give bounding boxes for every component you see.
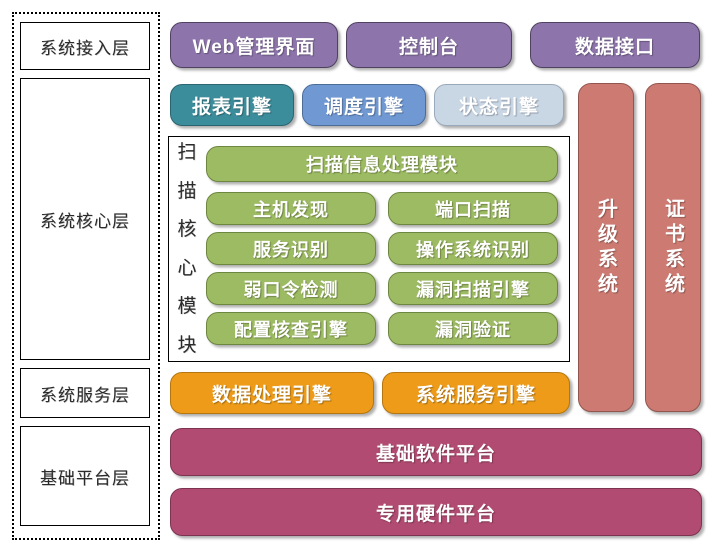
engine-item-status-label: 状态引擎: [459, 92, 539, 119]
side-system-certificate-label: 证书系统: [659, 198, 688, 298]
layer-label-platform: 基础平台层: [40, 464, 130, 489]
layer-label-service: 系统服务层: [40, 381, 130, 406]
core-vchar-3: 核: [177, 220, 196, 239]
engine-item-scheduler-label: 调度引擎: [324, 92, 404, 119]
core-vchar-5: 模: [177, 297, 196, 316]
access-item-web-ui-label: Web管理界面: [193, 32, 316, 59]
core-vchar-4: 心: [177, 259, 196, 278]
layer-box-service: 系统服务层: [20, 368, 150, 418]
core-module-service-identification[interactable]: 服务识别: [206, 232, 376, 265]
core-module-os-identification-label: 操作系统识别: [416, 236, 530, 262]
core-module-host-discovery-label: 主机发现: [253, 196, 329, 222]
service-item-system-service-engine[interactable]: 系统服务引擎: [382, 372, 570, 414]
core-module-host-discovery[interactable]: 主机发现: [206, 192, 376, 225]
service-item-system-service-engine-label: 系统服务引擎: [416, 380, 536, 407]
core-vchar-1: 扫: [177, 143, 196, 162]
platform-item-dedicated-hardware-label: 专用硬件平台: [376, 499, 496, 526]
core-module-scan-info-processing-label: 扫描信息处理模块: [306, 151, 458, 177]
access-item-data-interface-label: 数据接口: [575, 32, 655, 59]
side-system-upgrade-label: 升级系统: [592, 198, 621, 298]
platform-item-base-software-label: 基础软件平台: [376, 439, 496, 466]
engine-item-scheduler[interactable]: 调度引擎: [302, 84, 426, 126]
core-module-service-identification-label: 服务识别: [253, 236, 329, 262]
platform-item-dedicated-hardware[interactable]: 专用硬件平台: [170, 488, 702, 536]
core-module-vulnerability-scan-engine-label: 漏洞扫描引擎: [416, 276, 530, 302]
core-module-os-identification[interactable]: 操作系统识别: [388, 232, 558, 265]
platform-item-base-software[interactable]: 基础软件平台: [170, 428, 702, 476]
layer-label-access: 系统接入层: [40, 34, 130, 59]
core-module-vulnerability-verification-label: 漏洞验证: [435, 316, 511, 342]
core-vchar-6: 块: [177, 336, 196, 355]
core-module-vulnerability-scan-engine[interactable]: 漏洞扫描引擎: [388, 272, 558, 305]
layer-label-core: 系统核心层: [40, 207, 130, 232]
layer-box-platform: 基础平台层: [20, 426, 150, 526]
scan-core-module-vertical-label: 扫 描 核 心 模 块: [174, 143, 200, 355]
core-module-config-audit-engine[interactable]: 配置核查引擎: [206, 312, 376, 345]
service-item-data-processing-engine-label: 数据处理引擎: [212, 380, 332, 407]
side-system-upgrade[interactable]: 升级系统: [578, 83, 634, 412]
core-module-vulnerability-verification[interactable]: 漏洞验证: [388, 312, 558, 345]
core-vchar-2: 描: [177, 182, 196, 201]
core-module-weak-password-detection[interactable]: 弱口令检测: [206, 272, 376, 305]
core-module-port-scan-label: 端口扫描: [435, 196, 511, 222]
access-item-data-interface[interactable]: 数据接口: [530, 22, 700, 68]
access-item-console-label: 控制台: [399, 32, 459, 59]
access-item-web-ui[interactable]: Web管理界面: [170, 22, 338, 68]
layer-box-core: 系统核心层: [20, 78, 150, 360]
engine-item-report[interactable]: 报表引擎: [170, 84, 294, 126]
engine-item-report-label: 报表引擎: [192, 92, 272, 119]
engine-item-status[interactable]: 状态引擎: [434, 84, 564, 126]
architecture-diagram: 系统接入层 系统核心层 系统服务层 基础平台层 Web管理界面 控制台 数据接口…: [0, 0, 720, 550]
core-module-weak-password-detection-label: 弱口令检测: [244, 276, 339, 302]
layer-box-access: 系统接入层: [20, 22, 150, 70]
core-module-config-audit-engine-label: 配置核查引擎: [234, 316, 348, 342]
core-module-scan-info-processing[interactable]: 扫描信息处理模块: [206, 146, 558, 182]
side-system-certificate[interactable]: 证书系统: [645, 83, 701, 412]
access-item-console[interactable]: 控制台: [346, 22, 512, 68]
service-item-data-processing-engine[interactable]: 数据处理引擎: [170, 372, 374, 414]
core-module-port-scan[interactable]: 端口扫描: [388, 192, 558, 225]
